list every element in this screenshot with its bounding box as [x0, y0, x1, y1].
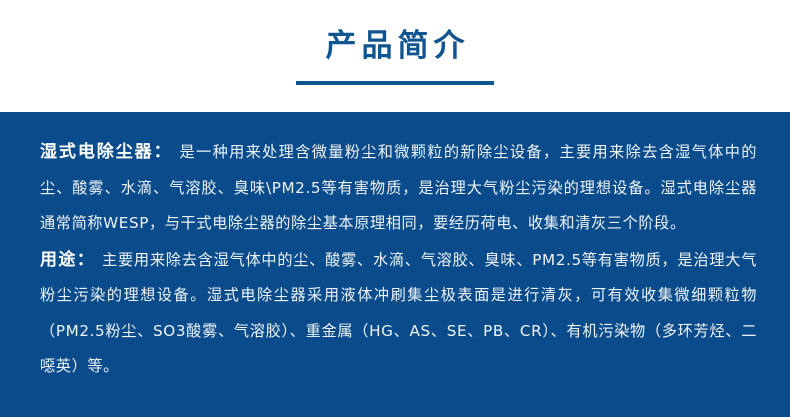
page-title: 产品简介: [321, 26, 470, 66]
page-header: 产品简介: [0, 0, 790, 112]
paragraph-term-label: 用途：: [40, 250, 102, 270]
paragraph-body-text: 主要用来除去含湿气体中的尘、酸雾、水滴、气溶胶、臭味、PM2.5等有害物质，是治…: [40, 251, 757, 376]
paragraph-product-definition: 湿式电除尘器：是一种用来处理含微量粉尘和微颗粒的新除尘设备，主要用来除去含湿气体…: [40, 135, 757, 242]
description-panel: 湿式电除尘器：是一种用来处理含微量粉尘和微颗粒的新除尘设备，主要用来除去含湿气体…: [0, 112, 790, 417]
paragraph-product-usage: 用途：主要用来除去含湿气体中的尘、酸雾、水滴、气溶胶、臭味、PM2.5等有害物质…: [40, 243, 757, 385]
product-introduction-page: 产品简介 湿式电除尘器：是一种用来处理含微量粉尘和微颗粒的新除尘设备，主要用来除…: [0, 0, 790, 417]
paragraph-term-label: 湿式电除尘器：: [40, 142, 180, 162]
title-underline-divider: [296, 81, 494, 85]
